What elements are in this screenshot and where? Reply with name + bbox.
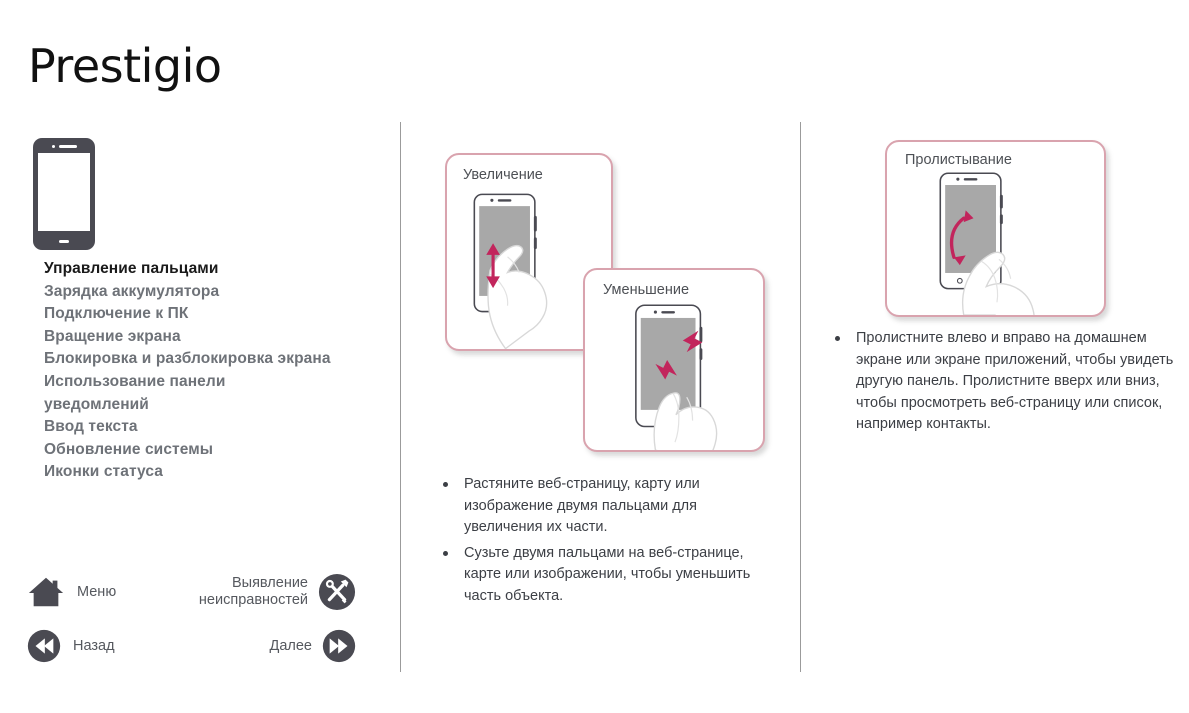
sidebar-item-6[interactable]: уведомлений: [44, 394, 389, 417]
sidebar-item-5[interactable]: Использование панели: [44, 371, 389, 394]
sidebar: Управление пальцами Зарядка аккумулятора…: [0, 0, 400, 713]
card-swipe-title: Пролистывание: [905, 152, 1012, 168]
bottom-navigation: Меню Выявление неисправностей: [0, 565, 400, 680]
sidebar-item-3[interactable]: Вращение экрана: [44, 326, 389, 349]
right-column: Пролистывание Пролистните влево и вправо…: [800, 0, 1189, 713]
wrench-screwdriver-icon: [318, 573, 356, 611]
table-of-contents: Управление пальцами Зарядка аккумулятора…: [44, 258, 389, 484]
page-root: Prestigio Управление пальцами Зарядка ак…: [0, 0, 1189, 713]
card-zoom-in-title: Увеличение: [463, 167, 543, 183]
sidebar-item-7[interactable]: Ввод текста: [44, 416, 389, 439]
home-icon: [27, 573, 65, 611]
back-label: Назад: [73, 638, 115, 655]
list-item: Пролистните влево и вправо на домашнем э…: [828, 328, 1178, 436]
troubleshooting-button[interactable]: Выявление неисправностей: [158, 573, 356, 611]
fast-forward-icon: [322, 629, 356, 663]
back-button[interactable]: Назад: [27, 629, 115, 663]
card-zoom-out: Уменьшение: [583, 268, 765, 452]
sidebar-item-8[interactable]: Обновление системы: [44, 439, 389, 462]
list-item: Растяните веб-страницу, карту или изобра…: [436, 474, 776, 539]
next-label: Далее: [270, 638, 312, 655]
troubleshooting-label: Выявление неисправностей: [158, 575, 308, 609]
menu-label: Меню: [77, 584, 116, 601]
middle-bullet-list: Растяните веб-страницу, карту или изобра…: [436, 474, 776, 611]
card-swipe: Пролистывание: [885, 140, 1106, 317]
rewind-icon: [27, 629, 61, 663]
right-bullet-list: Пролистните влево и вправо на домашнем э…: [828, 328, 1178, 440]
list-item: Сузьте двумя пальцами на веб-странице, к…: [436, 543, 776, 608]
sidebar-item-4[interactable]: Блокировка и разблокировка экрана: [44, 348, 389, 371]
sidebar-item-9[interactable]: Иконки статуса: [44, 461, 389, 484]
middle-column: Увеличение Умень: [400, 0, 800, 713]
menu-button[interactable]: Меню: [27, 573, 116, 611]
sidebar-item-0[interactable]: Управление пальцами: [44, 258, 389, 281]
sidebar-item-1[interactable]: Зарядка аккумулятора: [44, 281, 389, 304]
smartphone-icon: [33, 138, 95, 250]
card-zoom-out-title: Уменьшение: [603, 282, 689, 298]
sidebar-item-2[interactable]: Подключение к ПК: [44, 303, 389, 326]
next-button[interactable]: Далее: [270, 629, 356, 663]
